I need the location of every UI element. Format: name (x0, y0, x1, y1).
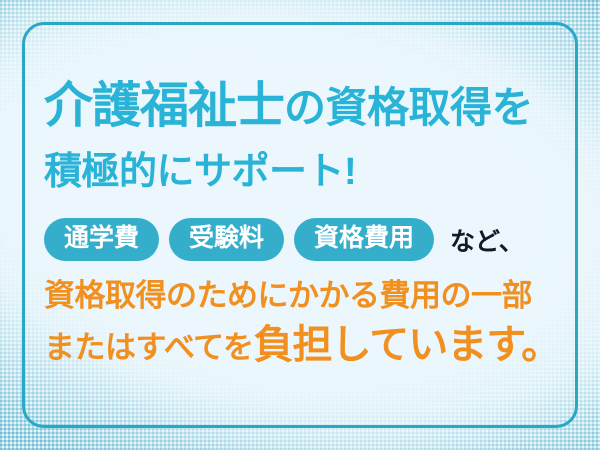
headline-line-1: 介護福祉士の資格取得を (44, 82, 533, 132)
promo-banner: 介護福祉士の資格取得を 積極的にサポート! 通学費 受験料 資格費用 など、 資… (0, 0, 600, 450)
banner-content: 介護福祉士の資格取得を 積極的にサポート! 通学費 受験料 資格費用 など、 資… (0, 0, 600, 450)
body-line-2: またはすべてを負担しています。 (44, 326, 560, 367)
cost-pill-exam-fee: 受験料 (169, 218, 284, 261)
cost-pill-certification-fee: 資格費用 (294, 218, 434, 261)
body-line-2-lead: またはすべてを (44, 330, 253, 365)
cost-pill-tuition: 通学費 (44, 218, 159, 261)
cost-pill-row: 通学費 受験料 資格費用 など、 (44, 218, 524, 261)
headline-line-2: 積極的にサポート! (44, 150, 356, 194)
headline-emphasis: 介護福祉士 (44, 79, 284, 133)
body-line-1: 資格取得のためにかかる費用の一部 (44, 278, 532, 314)
body-line-2-emphasis: 負担しています。 (253, 323, 560, 367)
headline-line-1-rest: の資格取得を (284, 84, 533, 131)
pill-row-suffix: など、 (450, 222, 524, 258)
